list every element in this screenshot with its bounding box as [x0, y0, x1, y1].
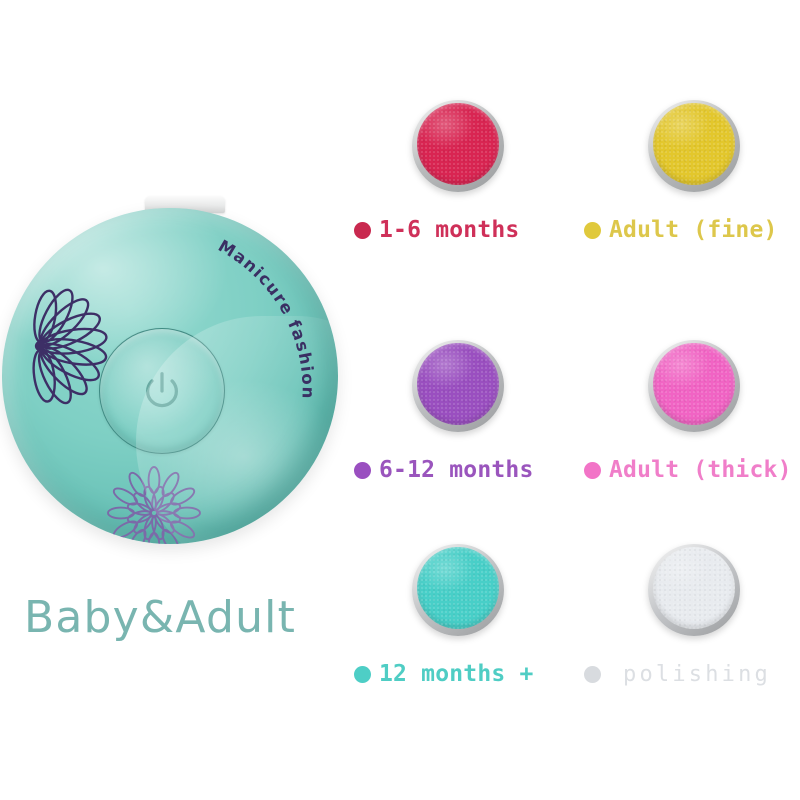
- legend-dot: [354, 666, 371, 683]
- device-body: [2, 208, 338, 544]
- grinding-heads-grid: 1-6 months Adult (fine): [344, 96, 796, 696]
- pad-surface: [653, 547, 735, 629]
- manicure-device: Manicure fashion: [2, 196, 342, 546]
- grinding-head-item[interactable]: Adult (fine): [570, 96, 796, 272]
- grinding-head-label: polishing: [623, 662, 771, 687]
- grinding-head-item[interactable]: polishing: [570, 540, 796, 716]
- page-title: Baby&Adult: [24, 592, 296, 643]
- legend-dot: [584, 462, 601, 479]
- power-button-icon: [139, 368, 185, 414]
- grinding-head-row: 12 months + polishing: [344, 540, 796, 716]
- grinding-head-legend: 12 months +: [354, 652, 580, 696]
- legend-dot: [354, 462, 371, 479]
- pad-surface: [653, 103, 735, 185]
- grinding-head-item[interactable]: 1-6 months: [344, 96, 570, 272]
- power-button[interactable]: [99, 328, 225, 454]
- sanding-pad[interactable]: [412, 340, 504, 432]
- grinding-head-item[interactable]: 12 months +: [344, 540, 570, 716]
- legend-dot: [354, 222, 371, 239]
- grinding-head-legend: 1-6 months: [354, 208, 580, 252]
- pad-surface: [417, 343, 499, 425]
- grinding-head-legend: polishing: [584, 652, 800, 696]
- sanding-pad[interactable]: [648, 340, 740, 432]
- sanding-pad[interactable]: [412, 544, 504, 636]
- pad-surface: [653, 343, 735, 425]
- legend-dot: [584, 666, 601, 683]
- grinding-head-row: 1-6 months Adult (fine): [344, 96, 796, 272]
- pad-surface: [417, 547, 499, 629]
- grinding-head-legend: 6-12 months: [354, 448, 580, 492]
- sanding-pad[interactable]: [648, 544, 740, 636]
- grinding-head-label: 12 months +: [379, 661, 534, 687]
- grinding-head-item[interactable]: Adult (thick): [570, 336, 796, 512]
- flower-rosette-icon: [104, 463, 204, 544]
- pad-surface: [417, 103, 499, 185]
- legend-dot: [584, 222, 601, 239]
- grinding-head-label: 6-12 months: [379, 457, 534, 483]
- grinding-head-label: 1-6 months: [379, 217, 519, 243]
- grinding-head-label: Adult (thick): [609, 457, 792, 483]
- grinding-head-item[interactable]: 6-12 months: [344, 336, 570, 512]
- sanding-pad[interactable]: [648, 100, 740, 192]
- sanding-pad[interactable]: [412, 100, 504, 192]
- grinding-head-row: 6-12 months Adult (thick): [344, 336, 796, 512]
- grinding-head-legend: Adult (fine): [584, 208, 800, 252]
- grinding-head-legend: Adult (thick): [584, 448, 800, 492]
- grinding-head-label: Adult (fine): [609, 217, 778, 243]
- product-image-canvas: Manicure fashion Baby&Adult 1-6 months: [0, 0, 800, 800]
